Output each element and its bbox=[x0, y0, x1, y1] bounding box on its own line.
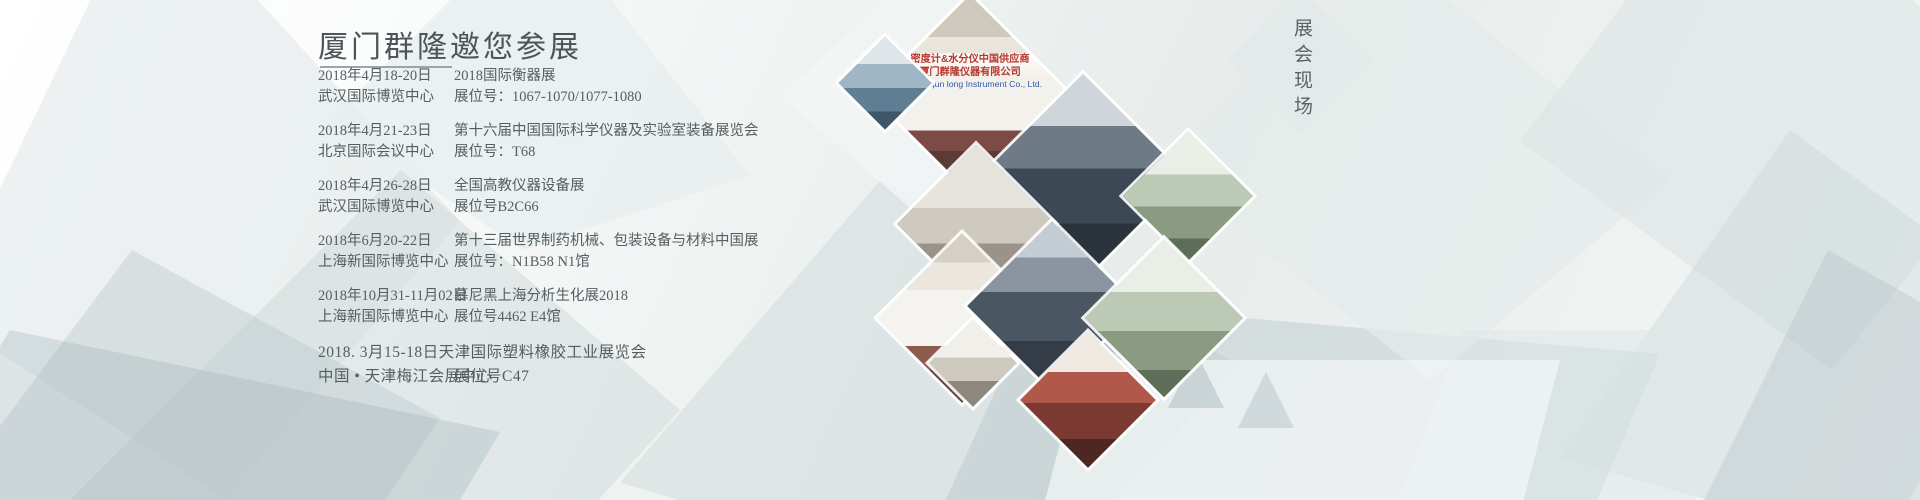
exhibition-name: 全国高教仪器设备展 bbox=[438, 176, 585, 197]
list-item: 2018. 3月15-18日天津国际塑料橡胶工业展览会 中国 • 天津梅江会展中… bbox=[0, 341, 900, 389]
exhibition-venue: 中国 • 天津梅江会展中心 bbox=[0, 365, 438, 389]
exhibition-venue: 上海新国际博览中心 bbox=[0, 307, 438, 328]
text-column: 厦门群隆邀您参展 2018年4月18-20日 2018国际衡器展 武汉国际博览中… bbox=[0, 0, 900, 500]
exhibition-booth: 展位号：1067-1070/1077-1080 bbox=[438, 87, 642, 108]
exhibition-name: 慕尼黑上海分析生化展2018 bbox=[438, 286, 628, 307]
list-item: 2018年4月18-20日 2018国际衡器展 武汉国际博览中心 展位号：106… bbox=[0, 66, 900, 108]
list-item: 2018年4月21-23日 第十六届中国国际科学仪器及实验室装备展览会 北京国际… bbox=[0, 121, 900, 163]
exhibition-venue: 上海新国际博览中心 bbox=[0, 252, 438, 273]
exhibition-date: 2018. 3月15-18日天津国际塑料橡胶工业展览会 bbox=[0, 341, 647, 365]
exhibition-venue: 武汉国际博览中心 bbox=[0, 87, 438, 108]
exhibition-list: 2018年4月18-20日 2018国际衡器展 武汉国际博览中心 展位号：106… bbox=[0, 66, 900, 402]
photo-collage: 展会现场 密度计&水分仪中国供应商 厦门群隆仪器有限公司 Xiamen qun … bbox=[880, 0, 1280, 500]
exhibition-name: 2018国际衡器展 bbox=[438, 66, 556, 87]
exhibition-booth: 展位号：N1B58 N1馆 bbox=[438, 252, 590, 273]
exhibition-booth: 展位号C47 bbox=[438, 365, 529, 389]
collage-vertical-label: 展会现场 bbox=[1285, 18, 1315, 122]
exhibition-venue: 武汉国际博览中心 bbox=[0, 197, 438, 218]
exhibition-booth: 展位号：T68 bbox=[438, 142, 535, 163]
list-item: 2018年6月20-22日 第十三届世界制药机械、包装设备与材料中国展 上海新国… bbox=[0, 231, 900, 273]
exhibition-date: 2018年4月21-23日 bbox=[0, 121, 438, 142]
exhibition-date: 2018年4月26-28日 bbox=[0, 176, 438, 197]
exhibition-booth: 展位号B2C66 bbox=[438, 197, 539, 218]
list-item: 2018年10月31-11月02日 慕尼黑上海分析生化展2018 上海新国际博览… bbox=[0, 286, 900, 328]
list-item: 2018年4月26-28日 全国高教仪器设备展 武汉国际博览中心 展位号B2C6… bbox=[0, 176, 900, 218]
exhibition-name: 第十三届世界制药机械、包装设备与材料中国展 bbox=[438, 231, 759, 252]
page-title: 厦门群隆邀您参展 bbox=[318, 22, 582, 66]
exhibition-venue: 北京国际会议中心 bbox=[0, 142, 438, 163]
exhibition-booth: 展位号4462 E4馆 bbox=[438, 307, 561, 328]
exhibition-date: 2018年4月18-20日 bbox=[0, 66, 438, 87]
exhibition-banner: 厦门群隆邀您参展 2018年4月18-20日 2018国际衡器展 武汉国际博览中… bbox=[0, 0, 1920, 500]
exhibition-name: 第十六届中国国际科学仪器及实验室装备展览会 bbox=[438, 121, 759, 142]
exhibition-date: 2018年10月31-11月02日 bbox=[0, 286, 438, 307]
exhibition-date: 2018年6月20-22日 bbox=[0, 231, 438, 252]
